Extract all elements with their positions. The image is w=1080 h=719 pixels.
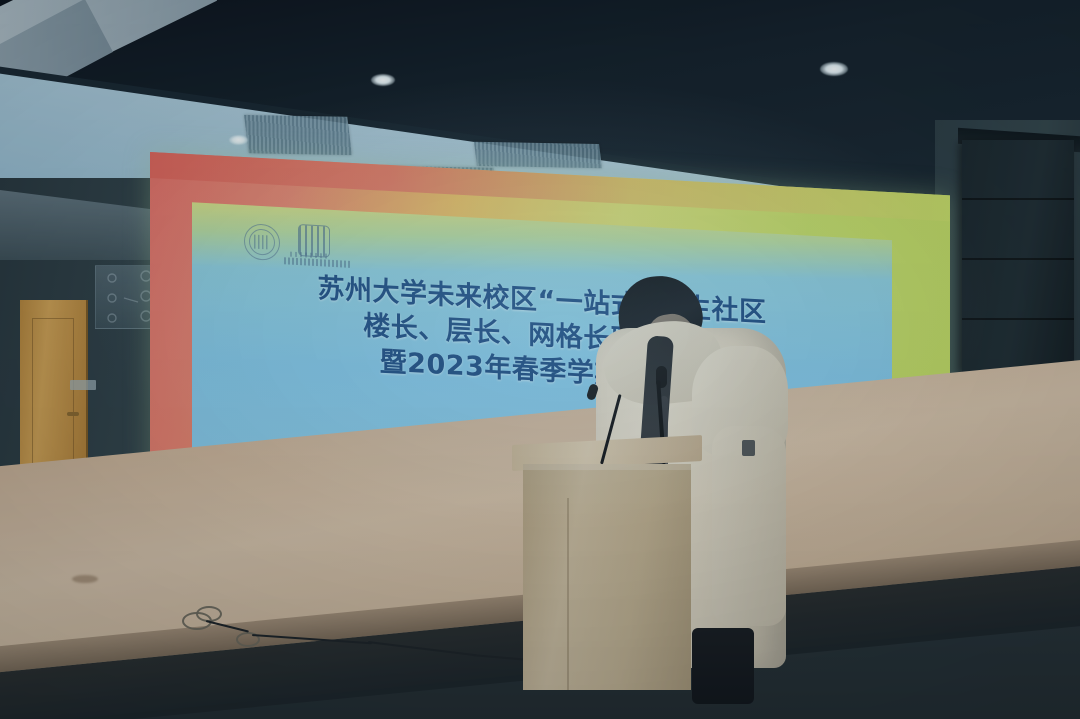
ceiling-air-vent xyxy=(474,142,602,168)
coiled-cable xyxy=(196,606,222,622)
jacket-sleeve xyxy=(712,426,786,626)
ceiling-air-vent xyxy=(244,115,352,155)
jacket-patch xyxy=(742,440,755,456)
university-seal-logo xyxy=(244,223,280,261)
line-array-speaker xyxy=(962,140,1074,372)
floor-mark xyxy=(72,575,98,583)
ceiling-downlight xyxy=(820,62,848,76)
door-handle[interactable] xyxy=(67,412,79,416)
ceiling-downlight xyxy=(371,74,395,86)
screenshot-root: 苏州大学未来校区“一站式”学生社区 楼长、层长、网格长聘任仪式 暨2023年春季… xyxy=(0,0,1080,719)
lectern-edge-highlight xyxy=(523,464,691,470)
lectern-body xyxy=(523,464,691,690)
wooden-lectern xyxy=(512,440,702,690)
wall-sign xyxy=(70,380,96,390)
ceiling-downlight xyxy=(229,135,248,145)
logo-caption-text xyxy=(284,257,352,268)
